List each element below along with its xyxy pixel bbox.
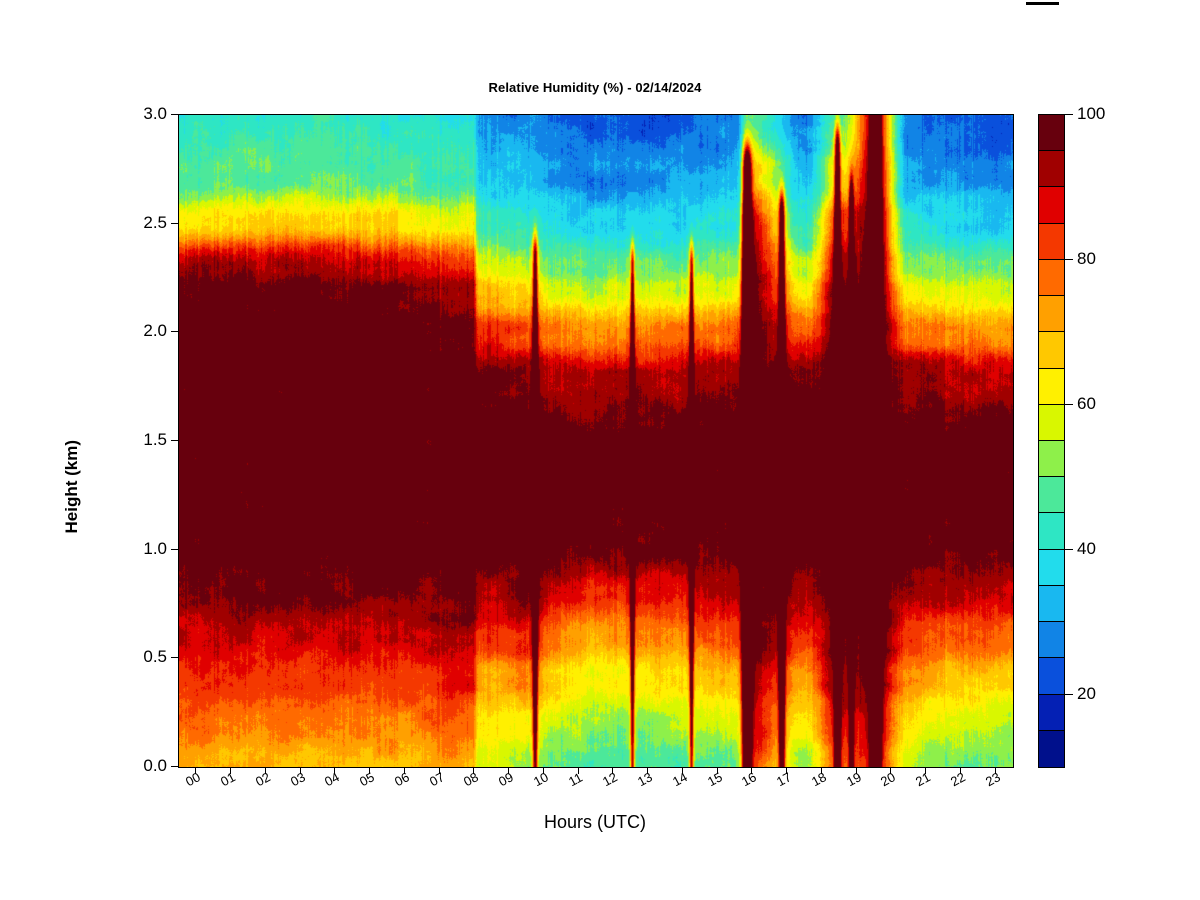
x-tick-label: 00 <box>183 769 203 789</box>
humidity-time-height-figure: Relative Humidity (%) - 02/14/2024 0.00.… <box>0 0 1200 900</box>
colorbar-tick-label: 60 <box>1077 394 1096 414</box>
colorbar-band <box>1039 513 1064 549</box>
colorbar <box>1038 114 1065 768</box>
x-tick-label: 13 <box>635 769 655 789</box>
colorbar-band <box>1039 115 1064 151</box>
x-tick-label: 09 <box>496 769 516 789</box>
y-tick-mark <box>171 657 178 658</box>
y-tick-label: 2.5 <box>143 213 167 233</box>
y-tick-mark <box>171 766 178 767</box>
x-tick-label: 06 <box>392 769 412 789</box>
y-axis-title: Height (km) <box>62 440 82 534</box>
colorbar-band <box>1039 296 1064 332</box>
colorbar-band <box>1039 441 1064 477</box>
colorbar-tick-label: 80 <box>1077 249 1096 269</box>
y-tick-label: 0.5 <box>143 647 167 667</box>
x-tick-label: 12 <box>600 769 620 789</box>
y-tick-mark <box>171 223 178 224</box>
colorbar-tick-label: 20 <box>1077 684 1096 704</box>
y-tick-label: 1.5 <box>143 430 167 450</box>
x-tick-label: 21 <box>913 769 933 789</box>
colorbar-band <box>1039 151 1064 187</box>
plot-area <box>178 114 1014 768</box>
colorbar-tick-mark <box>1065 549 1073 550</box>
y-tick-label: 1.0 <box>143 539 167 559</box>
y-tick-mark <box>171 114 178 115</box>
y-tick-label: 0.0 <box>143 756 167 776</box>
x-tick-label: 17 <box>774 769 794 789</box>
colorbar-band <box>1039 260 1064 296</box>
x-tick-label: 16 <box>739 769 759 789</box>
x-tick-label: 05 <box>357 769 377 789</box>
x-tick-label: 11 <box>566 770 585 790</box>
colorbar-band <box>1039 369 1064 405</box>
frame-artifact <box>1026 2 1059 5</box>
y-tick-mark <box>171 331 178 332</box>
x-tick-label: 08 <box>461 769 481 789</box>
x-tick-label: 03 <box>288 769 308 789</box>
y-tick-label: 2.0 <box>143 321 167 341</box>
colorbar-band <box>1039 405 1064 441</box>
page-title: Relative Humidity (%) - 02/14/2024 <box>178 80 1012 95</box>
x-tick-label: 07 <box>427 769 447 789</box>
x-tick-label: 10 <box>531 769 551 789</box>
colorbar-band <box>1039 731 1064 767</box>
colorbar-band <box>1039 658 1064 694</box>
y-tick-label: 3.0 <box>143 104 167 124</box>
humidity-heatmap <box>179 115 1013 767</box>
y-tick-mark <box>171 549 178 550</box>
x-tick-label: 02 <box>253 769 273 789</box>
colorbar-tick-label: 40 <box>1077 539 1096 559</box>
x-tick-label: 01 <box>218 769 238 789</box>
colorbar-band <box>1039 477 1064 513</box>
colorbar-band <box>1039 695 1064 731</box>
x-tick-label: 20 <box>878 769 898 789</box>
x-tick-label: 14 <box>670 769 690 789</box>
colorbar-tick-mark <box>1065 114 1073 115</box>
colorbar-band <box>1039 586 1064 622</box>
colorbar-tick-mark <box>1065 694 1073 695</box>
x-axis-title: Hours (UTC) <box>178 812 1012 833</box>
x-tick-label: 19 <box>844 769 864 789</box>
x-tick-label: 22 <box>948 769 968 789</box>
colorbar-band <box>1039 622 1064 658</box>
y-tick-mark <box>171 440 178 441</box>
x-tick-label: 23 <box>983 769 1003 789</box>
colorbar-band <box>1039 224 1064 260</box>
colorbar-tick-mark <box>1065 259 1073 260</box>
x-tick-label: 15 <box>705 769 725 789</box>
colorbar-tick-mark <box>1065 404 1073 405</box>
colorbar-tick-label: 100 <box>1077 104 1105 124</box>
x-tick-label: 18 <box>809 769 829 789</box>
x-tick-label: 04 <box>322 769 342 789</box>
colorbar-band <box>1039 550 1064 586</box>
colorbar-band <box>1039 332 1064 368</box>
colorbar-band <box>1039 187 1064 223</box>
